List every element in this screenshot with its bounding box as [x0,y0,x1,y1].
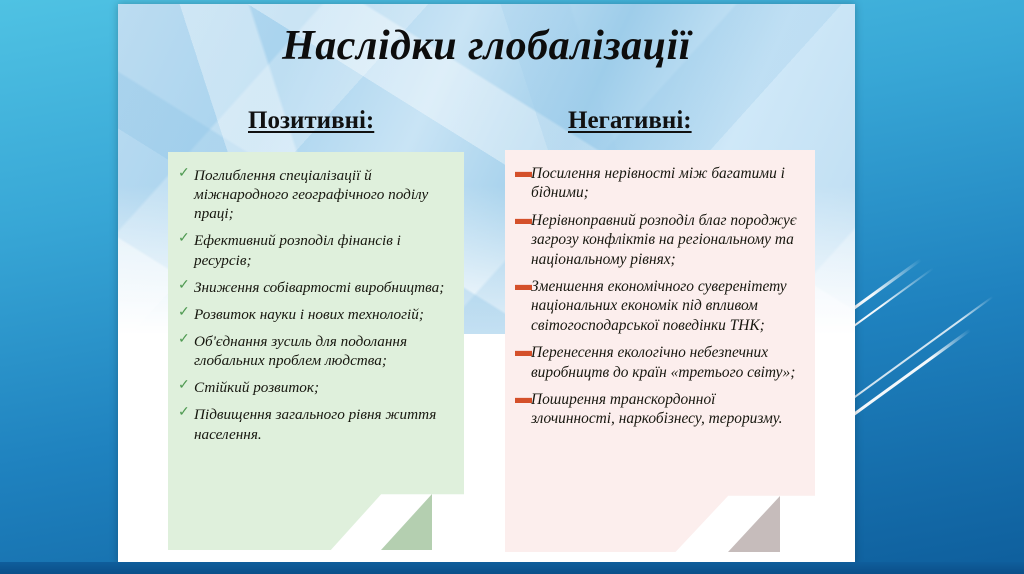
bottom-blue-strip [0,562,1024,574]
check-icon: ✓ [178,379,190,393]
check-icon: ✓ [178,333,190,347]
positive-panel-folded-corner [381,494,432,550]
slide-title: Наслідки глобалізації [118,22,855,70]
list-item-text: Стійкий розвиток; [194,379,319,396]
check-icon: ✓ [178,306,190,320]
check-icon: ✓ [178,232,190,246]
list-item: ✓Розвиток науки і нових технологій; [178,305,450,324]
list-item: ✓Об'єднання зусиль для подолання глобаль… [178,332,450,370]
dash-icon: ▬ [515,342,532,359]
list-item-text: Підвищення загального рівня життя населе… [194,406,436,442]
dash-icon: ▬ [515,389,532,406]
presentation-slide: Наслідки глобалізації Позитивні: Негатив… [118,4,855,564]
list-item: ✓Поглиблення спеціалізації й міжнародног… [178,166,450,223]
list-item: ▬Перенесення екологічно небезпечних виро… [515,343,801,382]
list-item: ✓Стійкий розвиток; [178,378,450,397]
dash-icon: ▬ [515,163,532,180]
list-item: ✓Підвищення загального рівня життя насел… [178,405,450,443]
list-item-text: Поширення транскордонної злочинності, на… [531,391,783,427]
list-item-text: Ефективний розподіл фінансів і ресурсів; [194,232,401,268]
check-icon: ✓ [178,167,190,181]
list-item: ▬Нерівноправний розподіл благ породжує з… [515,211,801,269]
positive-note-panel: ✓Поглиблення спеціалізації й міжнародног… [168,152,464,550]
negative-bullet-list: ▬Посилення нерівності між багатими і бід… [515,164,801,429]
positive-column-heading: Позитивні: [248,107,374,135]
dash-icon: ▬ [515,276,532,293]
list-item: ✓Зниження собівартості виробництва; [178,278,450,297]
list-item-text: Нерівноправний розподіл благ породжує за… [531,212,797,268]
negative-column-heading: Негативні: [568,107,692,135]
list-item: ▬Зменшення економічного суверенітету нац… [515,277,801,335]
check-icon: ✓ [178,279,190,293]
list-item: ▬Поширення транскордонної злочинності, н… [515,390,801,429]
list-item-text: Зниження собівартості виробництва; [194,279,444,296]
positive-bullet-list: ✓Поглиблення спеціалізації й міжнародног… [178,166,450,444]
negative-panel-folded-corner [728,496,780,552]
slide-stage: Наслідки глобалізації Позитивні: Негатив… [0,0,1024,574]
list-item-text: Посилення нерівності між багатими і бідн… [531,165,785,201]
list-item: ▬Посилення нерівності між багатими і бід… [515,164,801,203]
list-item-text: Перенесення екологічно небезпечних вироб… [531,344,795,380]
list-item-text: Об'єднання зусиль для подолання глобальн… [194,333,407,369]
list-item-text: Розвиток науки і нових технологій; [194,306,424,323]
check-icon: ✓ [178,406,190,420]
dash-icon: ▬ [515,210,532,227]
list-item-text: Поглиблення спеціалізації й міжнародного… [194,167,428,222]
list-item: ✓Ефективний розподіл фінансів і ресурсів… [178,231,450,269]
negative-note-panel: ▬Посилення нерівності між багатими і бід… [505,150,815,552]
list-item-text: Зменшення економічного суверенітету наці… [531,278,787,334]
